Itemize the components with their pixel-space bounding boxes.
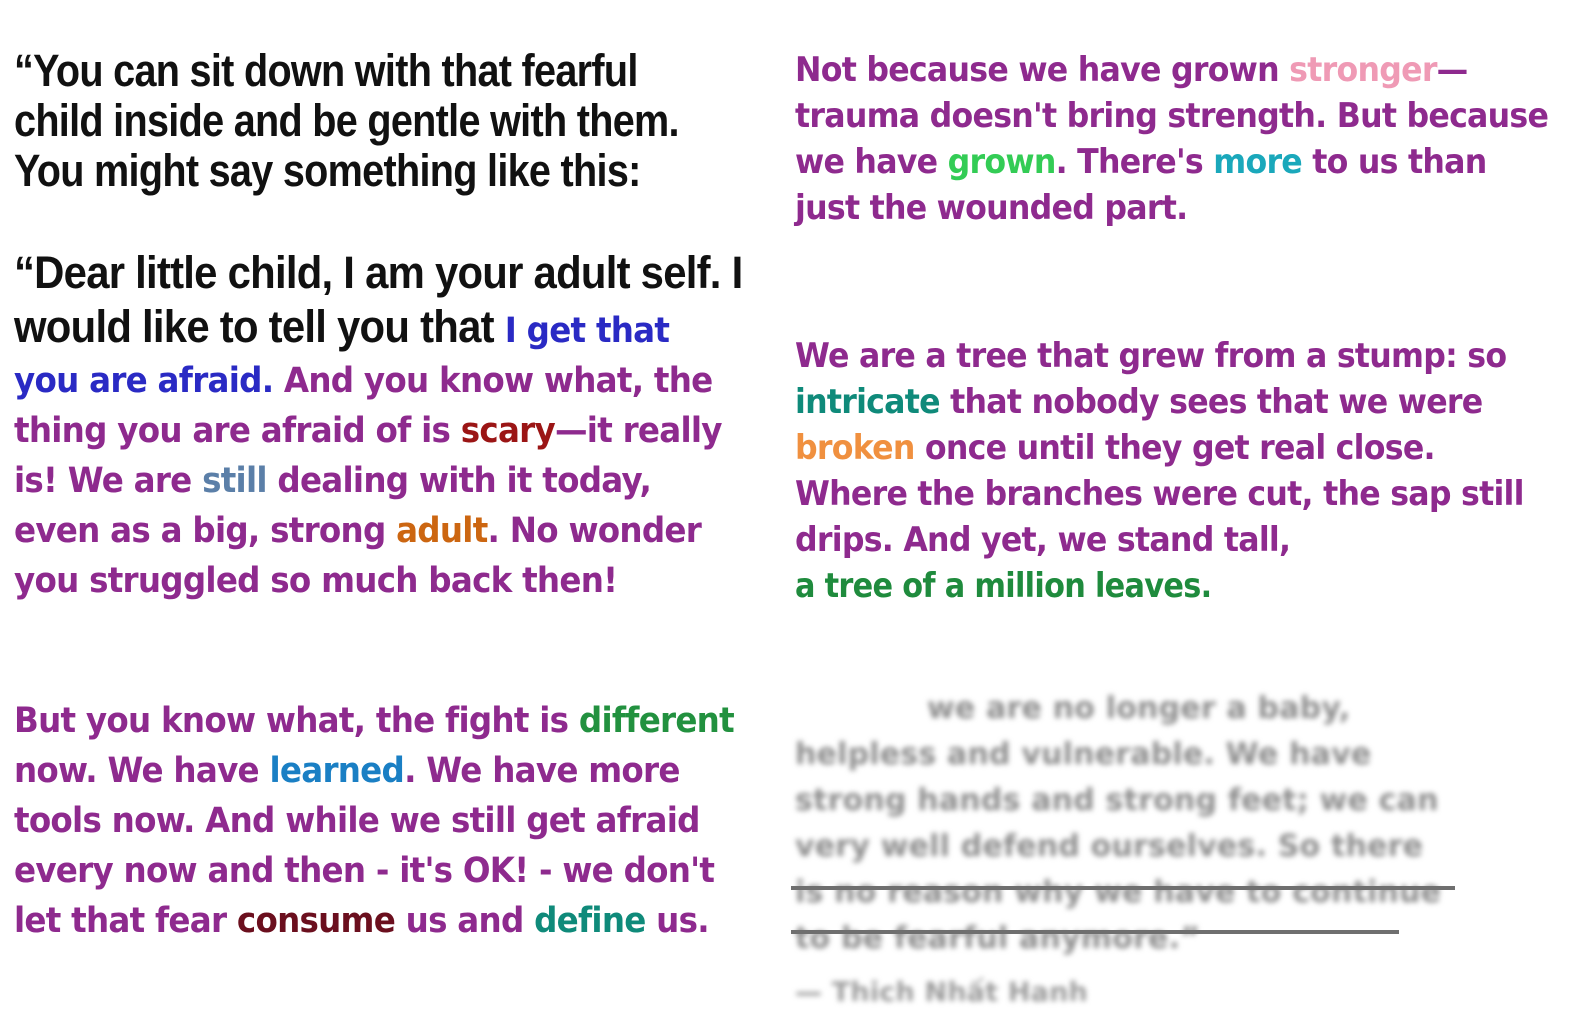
segment-body-9: us. [646,901,709,941]
strikethrough-rule-lower [791,930,1399,934]
segment-body-14: We are a tree that grew from a stump: so [795,336,1506,376]
intro-line-2: child inside and be gentle with them. [14,96,740,146]
paragraph-dear-little-child: “Dear little child, I am your adult self… [14,248,744,606]
segment-grown: grown [948,142,1056,182]
segment-scary: scary [461,411,555,451]
segment-body-6: now. We have [14,751,269,791]
segment-intricate: intricate [795,382,940,422]
paragraph-we-are-a-tree: We are a tree that grew from a stump: so… [795,333,1555,609]
segment-more: more [1213,142,1302,182]
segment-different: different [579,701,734,741]
quote-attribution: — Thich Nhất Hanh [795,970,1455,1016]
quote-line-2: helpless and vulnerable. We have [795,737,1371,772]
segment-body-8: us and [395,901,534,941]
segment-stronger: stronger [1289,50,1436,90]
segment-body-15: that nobody sees that we were [940,382,1483,422]
segment-broken: broken [795,428,915,468]
segment-adult: adult [396,511,487,551]
segment-body-5: But you know what, the fight is [14,701,579,741]
segment-consume: consume [237,901,395,941]
segment-a-tree-of-a-million-leaves: a tree of a million leaves. [795,563,1211,609]
quote-line-3: strong hands and strong feet; we [795,783,1368,818]
segment-define: define [534,901,645,941]
paragraph-intro: “You can sit down with that fearful chil… [14,46,740,196]
intro-line-1: “You can sit down with that fearful [14,46,740,96]
strikethrough-rule-upper [791,886,1455,890]
paragraph-not-because-we-have-grown: Not because we have grown stronger—traum… [795,47,1555,231]
paragraph-the-fight-is-different: But you know what, the fight is differen… [14,696,744,946]
segment-body-12: . There's [1056,142,1214,182]
intro-line-2-text: child inside and be gentle with them. [14,95,679,146]
page-canvas: “You can sit down with that fearful chil… [0,0,1570,1030]
segment-body-10: Not because we have grown [795,50,1289,90]
segment-learned: learned [269,751,404,791]
quote-line-1: we are no longer a baby, [927,691,1350,726]
blurred-thich-nhat-hanh-quote: we are no longer a baby, helpless and vu… [795,686,1455,1016]
intro-line-3: You might say something like this: [14,146,740,196]
segment-still: still [202,461,267,501]
